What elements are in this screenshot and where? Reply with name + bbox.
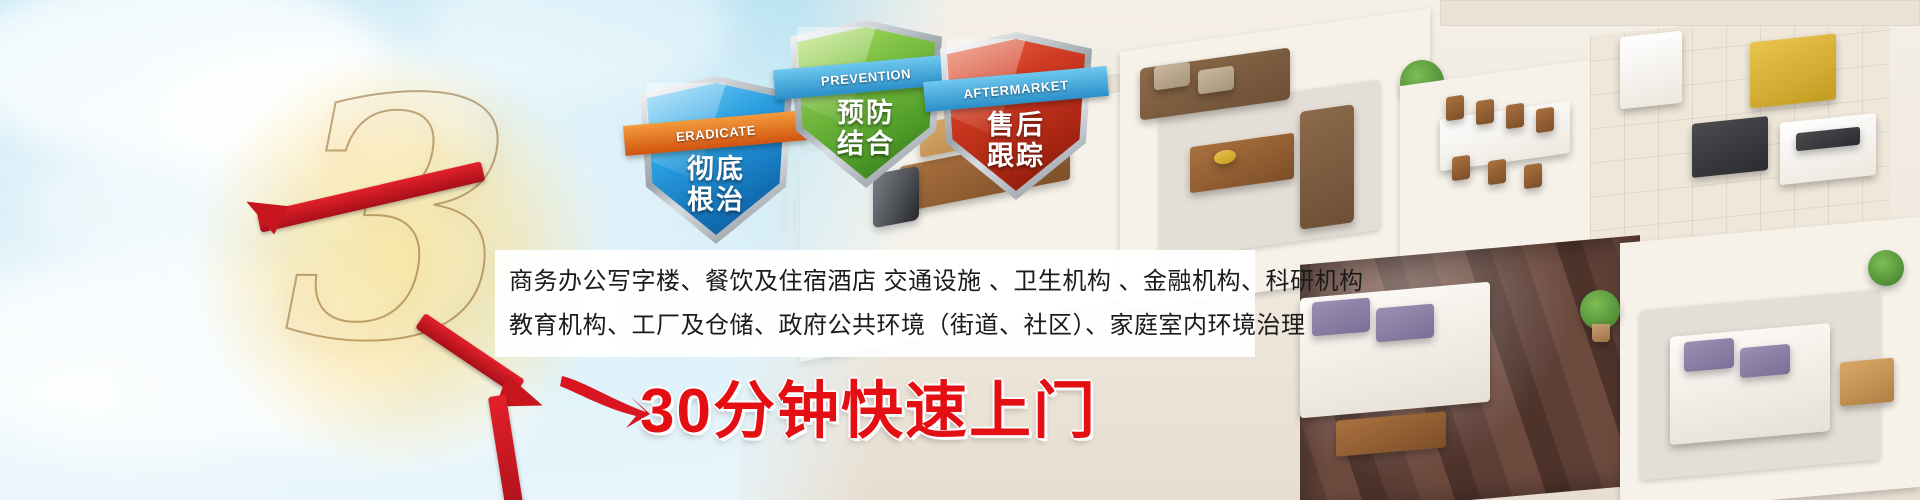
badge-aftermarket: 售后 跟踪 AFTERMARKET: [940, 32, 1092, 200]
badge-aftermarket-cn-line2: 跟踪: [987, 141, 1045, 171]
badge-prevention-cn: 预防 结合: [790, 98, 942, 160]
badge-prevention-cn-line2: 结合: [837, 129, 895, 159]
badge-prevention-cn-line1: 预防: [837, 98, 895, 128]
badge-group: 彻底 根治 ERADICATE 预防 结合 PREVENTION 售后 跟踪 A…: [640, 14, 1200, 204]
badge-eradicate-cn-line1: 彻底: [687, 154, 745, 184]
badge-eradicate-cn-line2: 根治: [687, 185, 745, 215]
headline-text: 30分钟快速上门: [640, 360, 1097, 450]
service-scope-panel: 商务办公写字楼、餐饮及住宿酒店 交通设施 、卫生机构 、金融机构、科研机构 教育…: [495, 250, 1255, 357]
badge-eradicate: 彻底 根治 ERADICATE: [640, 76, 792, 244]
red-arrow-icon: [560, 372, 652, 434]
promo-banner: 3 彻底 根治 ERADICATE 预防 结合: [0, 0, 1920, 500]
badge-aftermarket-cn: 售后 跟踪: [940, 110, 1092, 172]
service-scope-line-2: 教育机构、工厂及仓储、政府公共环境（街道、社区）、家庭室内环境治理: [509, 304, 1241, 348]
badge-eradicate-cn: 彻底 根治: [640, 154, 792, 216]
badge-prevention: 预防 结合 PREVENTION: [790, 20, 942, 188]
badge-aftermarket-cn-line1: 售后: [987, 110, 1045, 140]
service-scope-line-1: 商务办公写字楼、餐饮及住宿酒店 交通设施 、卫生机构 、金融机构、科研机构: [509, 260, 1241, 304]
